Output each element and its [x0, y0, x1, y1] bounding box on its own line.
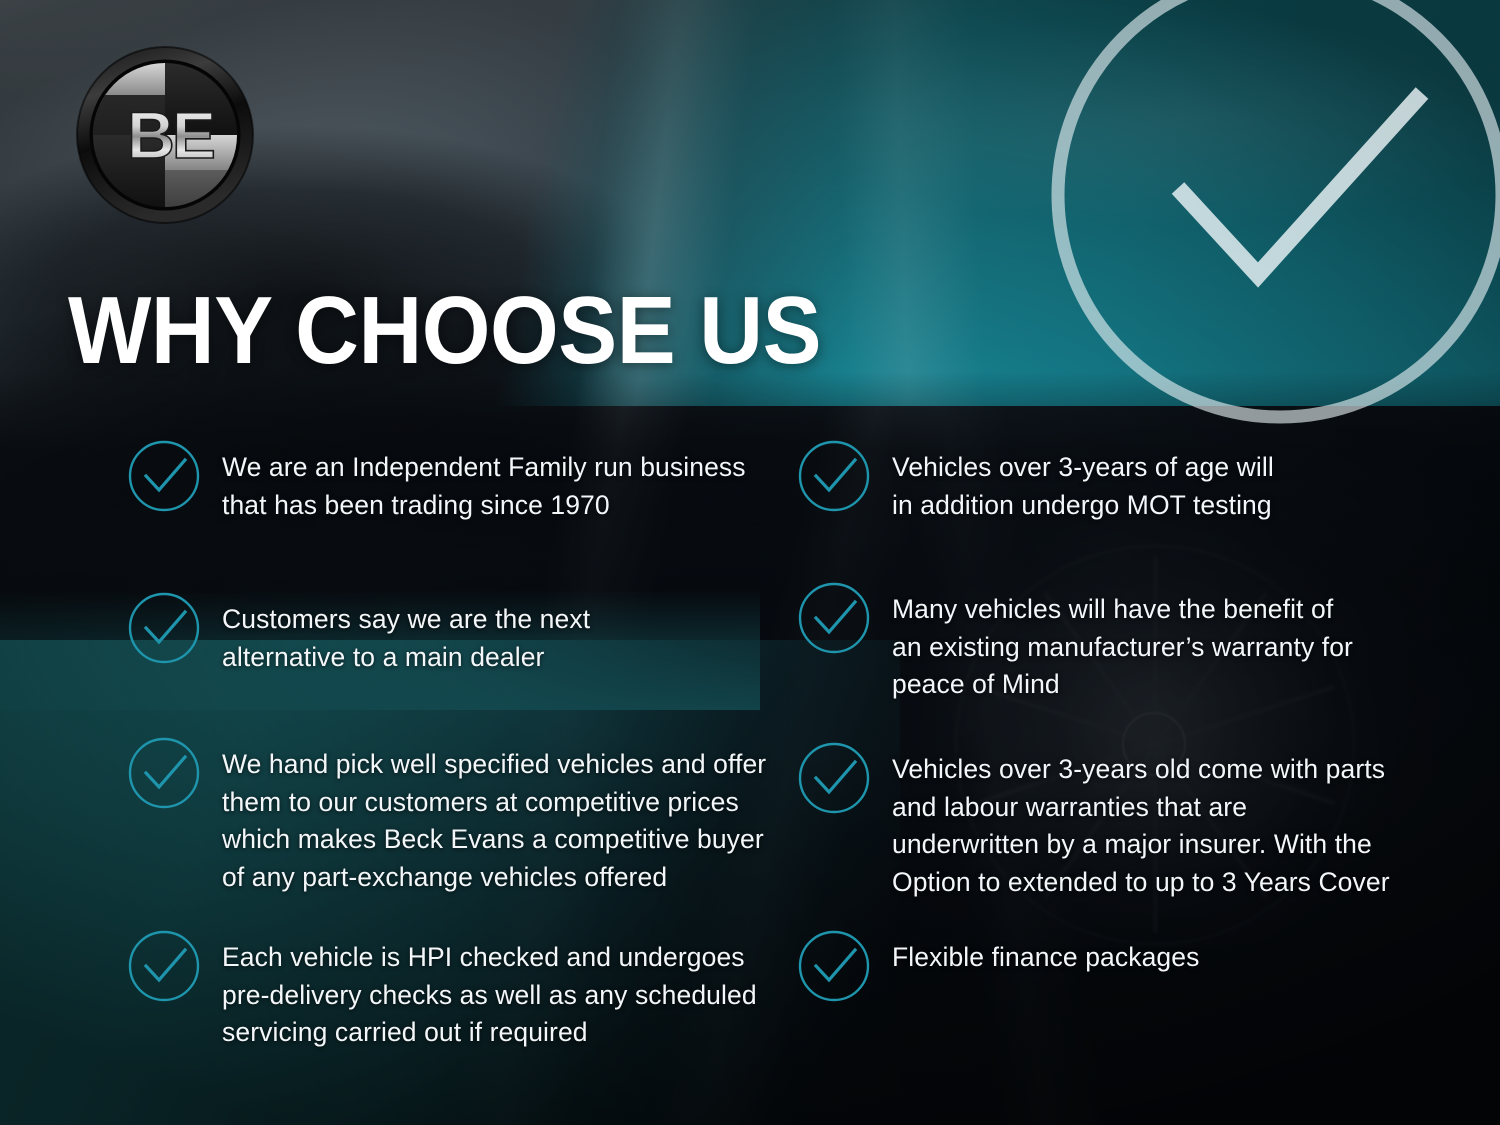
check-circle-icon: [798, 582, 870, 654]
check-circle-icon: [128, 440, 200, 512]
check-circle-icon: [128, 930, 200, 1002]
benefit-item-text: Customers say we are the next alternativ…: [222, 592, 590, 676]
check-circle-icon: [798, 742, 870, 814]
check-circle-icon: [798, 440, 870, 512]
benefit-item-hpi-checked-pre-delivery: Each vehicle is HPI checked and undergoe…: [128, 930, 757, 1052]
benefit-item-text: Vehicles over 3-years of age will in add…: [892, 440, 1274, 524]
benefit-item-text: We hand pick well specified vehicles and…: [222, 737, 766, 897]
benefit-item-parts-labour-warranties: Vehicles over 3-years old come with part…: [798, 742, 1390, 902]
benefit-item-text: Many vehicles will have the benefit of a…: [892, 582, 1353, 704]
benefit-item-text: We are an Independent Family run busines…: [222, 440, 746, 524]
check-circle-icon: [128, 592, 200, 664]
brand-logo[interactable]: BE: [70, 40, 260, 230]
benefit-item-mot-testing-over-3-years: Vehicles over 3-years of age will in add…: [798, 440, 1274, 524]
benefit-item-manufacturer-warranty: Many vehicles will have the benefit of a…: [798, 582, 1353, 704]
benefit-item-hand-picked-vehicles: We hand pick well specified vehicles and…: [128, 737, 766, 897]
page-title: WHY CHOOSE US: [68, 283, 821, 379]
benefit-item-flexible-finance: Flexible finance packages: [798, 930, 1199, 1002]
benefit-item-text: Each vehicle is HPI checked and undergoe…: [222, 930, 757, 1052]
check-circle-icon: [798, 930, 870, 1002]
check-circle-icon: [128, 737, 200, 809]
benefit-item-text: Flexible finance packages: [892, 930, 1199, 977]
benefit-item-text: Vehicles over 3-years old come with part…: [892, 742, 1390, 902]
why-choose-us-poster: BE WHY CHOOSE US We are an Independent F…: [0, 0, 1500, 1125]
benefit-item-independent-family-business: We are an Independent Family run busines…: [128, 440, 746, 524]
hero-check-circle-icon: [1030, 0, 1500, 445]
logo-letters: BE: [127, 98, 214, 172]
benefit-item-next-alternative-main-dealer: Customers say we are the next alternativ…: [128, 592, 590, 676]
